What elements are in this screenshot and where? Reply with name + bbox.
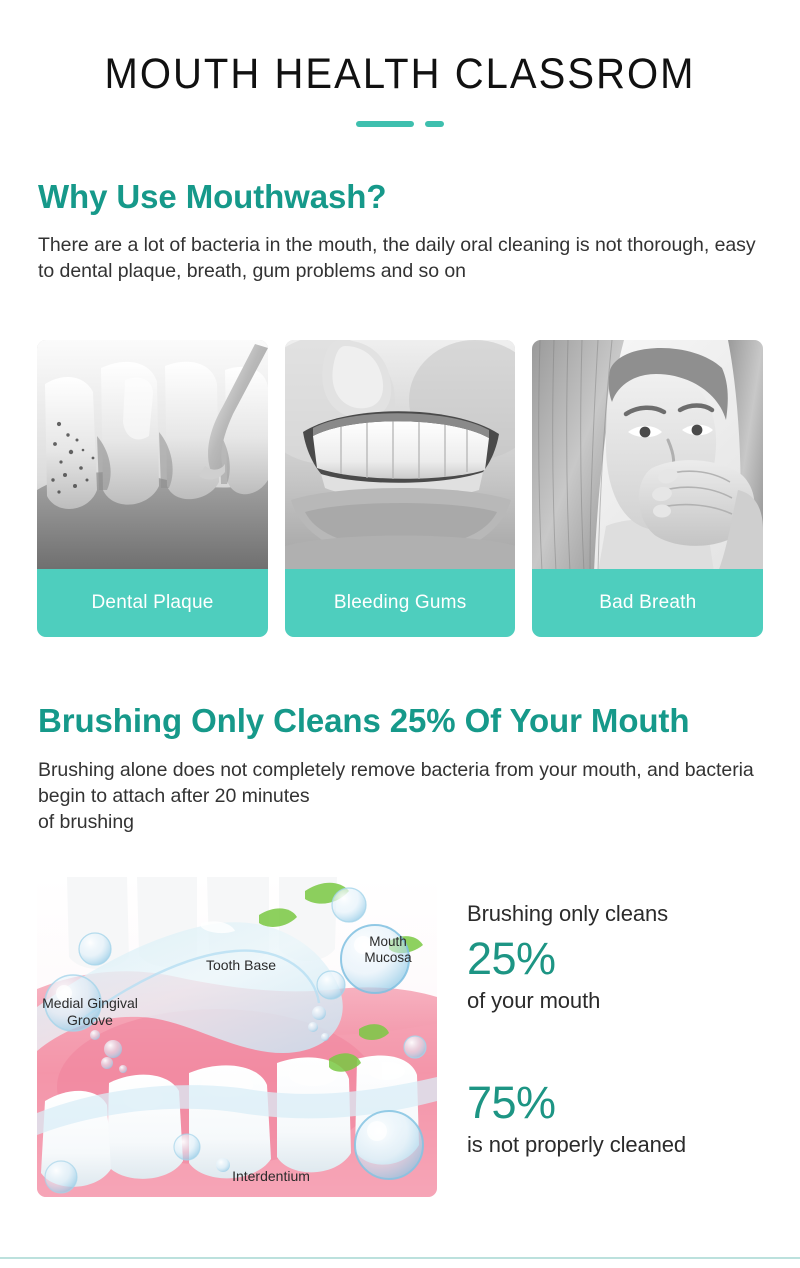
stat-line-brushing-only-cleans: Brushing only cleans [467,900,767,928]
stats-spacer [467,1014,767,1072]
header-block: MOUTH HEALTH CLASSROM [0,52,800,127]
card-caption-bad-breath: Bad Breath [532,569,763,637]
section-body-why-use-mouthwash: There are a lot of bacteria in the mouth… [38,232,762,284]
card-caption-dental-plaque: Dental Plaque [37,569,268,637]
title-divider [0,121,800,127]
brushing-stats-block: Brushing only cleans 25% of your mouth 7… [467,900,767,1159]
page-root: MOUTH HEALTH CLASSROM Why Use Mouthwash?… [0,0,800,1268]
stat-line-not-properly-cleaned: is not properly cleaned [467,1131,767,1159]
card-dental-plaque[interactable]: Dental Plaque [37,340,268,637]
dental-plaque-photo [37,340,268,572]
section-heading-why-use-mouthwash: Why Use Mouthwash? [38,178,386,216]
page-title: MOUTH HEALTH CLASSROM [28,52,772,97]
stat-value-75-percent: 75% [467,1076,767,1129]
bleeding-gums-photo [285,340,516,572]
problem-cards-list: Dental Plaque [37,340,763,637]
bottom-divider-rule [0,1257,800,1259]
card-caption-bleeding-gums: Bleeding Gums [285,569,516,637]
divider-long-dash-icon [356,121,414,127]
section-heading-brushing: Brushing Only Cleans 25% Of Your Mouth [38,702,689,740]
stat-line-of-your-mouth: of your mouth [467,987,767,1015]
stat-value-25-percent: 25% [467,932,767,985]
section-body-brushing: Brushing alone does not completely remov… [38,757,768,835]
card-bleeding-gums[interactable]: Bleeding Gums [285,340,516,637]
gums-teeth-bubbles-illustration [37,877,437,1197]
card-bad-breath[interactable]: Bad Breath [532,340,763,637]
divider-short-dash-icon [425,121,444,127]
bad-breath-photo [532,340,763,572]
